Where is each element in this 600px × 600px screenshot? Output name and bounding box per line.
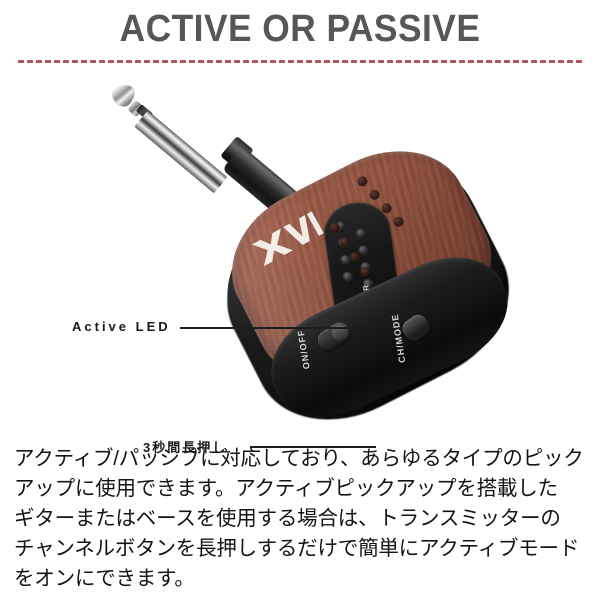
channel-mode-button[interactable] — [399, 311, 433, 344]
description-line-3: ギターまたはベースを使用する場合は、トランスミッターの — [14, 504, 592, 534]
description-text: アクティブ/パッシブに対応しており、あらゆるタイプのピック アップに使用できます… — [14, 444, 592, 594]
header-section: ACTIVE OR PASSIVE — [0, 0, 600, 72]
jack-plug — [108, 80, 283, 210]
channel-mode-label: CH/MODE — [390, 313, 408, 363]
power-switch[interactable] — [314, 319, 353, 354]
led-reflection — [369, 189, 380, 200]
page-title: ACTIVE OR PASSIVE — [21, 8, 579, 51]
power-switch-label: ON/OFF — [296, 329, 312, 370]
title-divider — [18, 60, 582, 63]
product-illustration: A2 4 TRANSMITTER ON — [0, 72, 600, 440]
plug-shaft — [134, 110, 227, 193]
led-reflection — [393, 216, 404, 227]
description-line-5: をオンにできます。 — [14, 564, 592, 594]
description-line-1: アクティブ/パッシブに対応しており、あらゆるタイプのピック — [14, 444, 592, 474]
led-reflection — [357, 176, 368, 187]
callout-label-active-led: Active LED — [72, 319, 171, 334]
xvive-logo-icon — [247, 204, 330, 271]
led-dot — [342, 271, 354, 283]
description-line-4: チャンネルボタンを長押しするだけで簡単にアクティブモード — [14, 534, 592, 564]
description-line-2: アップに使用できます。アクティブピックアップを搭載した — [14, 474, 592, 504]
led-reflection — [360, 266, 371, 277]
led-reflection — [381, 203, 392, 214]
callout-leader-active-led — [180, 327, 358, 329]
